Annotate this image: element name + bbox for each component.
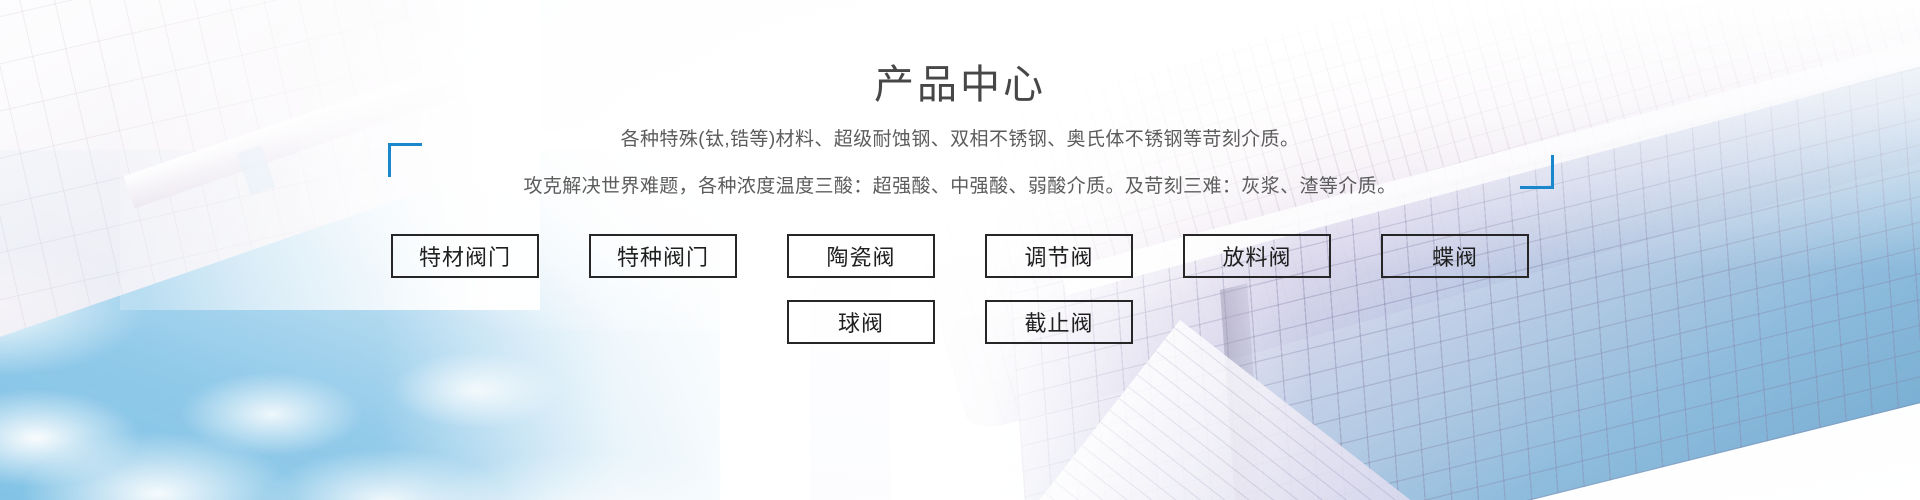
description-line-1: 各种特殊(钛,锆等)材料、超级耐蚀钢、双相不锈钢、奥氏体不锈钢等苛刻介质。: [0, 126, 1920, 155]
description-line-2: 攻克解决世界难题，各种浓度温度三酸：超强酸、中强酸、弱酸介质。及苛刻三难：灰浆、…: [0, 173, 1920, 202]
category-button-discharge-valve[interactable]: 放料阀: [1183, 234, 1331, 278]
category-button-control-valve[interactable]: 调节阀: [985, 234, 1133, 278]
product-category-grid: 特材阀门 特种阀门 陶瓷阀 调节阀 放料阀 蝶阀 球阀 截止阀: [0, 234, 1920, 344]
category-button-techai-valve[interactable]: 特材阀门: [391, 234, 539, 278]
category-button-globe-valve[interactable]: 截止阀: [985, 300, 1133, 344]
product-center-banner: 产品中心 各种特殊(钛,锆等)材料、超级耐蚀钢、双相不锈钢、奥氏体不锈钢等苛刻介…: [0, 0, 1920, 500]
category-button-special-valve[interactable]: 特种阀门: [589, 234, 737, 278]
category-button-butterfly-valve[interactable]: 蝶阀: [1381, 234, 1529, 278]
page-title: 产品中心: [0, 52, 1920, 110]
category-button-ceramic-valve[interactable]: 陶瓷阀: [787, 234, 935, 278]
banner-content: 产品中心 各种特殊(钛,锆等)材料、超级耐蚀钢、双相不锈钢、奥氏体不锈钢等苛刻介…: [0, 0, 1920, 500]
category-button-ball-valve[interactable]: 球阀: [787, 300, 935, 344]
